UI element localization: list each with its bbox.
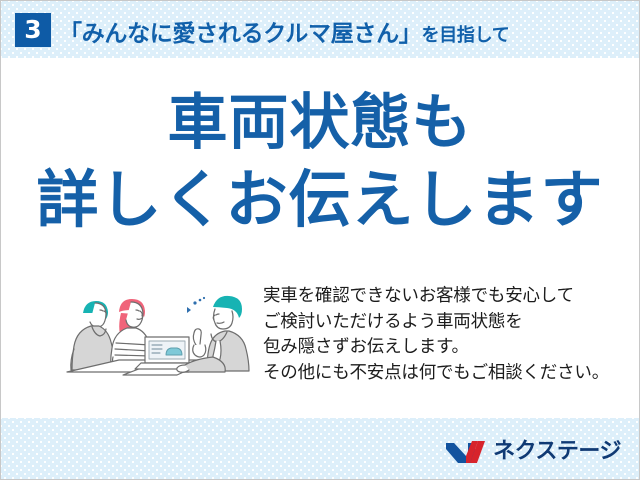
nexstage-logo-text: ネクステージ xyxy=(493,439,621,465)
body-line-3: 包み隠さずお伝えします。 xyxy=(263,335,609,361)
advertisement-banner: 3 「みんなに愛されるクルマ屋さん」 を目指して 車両状態も 詳しくお伝えします xyxy=(0,0,640,480)
body-line-4: その他にも不安点は何でもご相談ください。 xyxy=(263,361,609,387)
consultation-illustration xyxy=(63,279,259,391)
sales-staff-fist xyxy=(193,345,206,357)
sales-staff-face xyxy=(214,309,234,329)
step-number-badge: 3 xyxy=(15,13,51,47)
nexstage-logo: ネクステージ xyxy=(444,437,621,467)
header-title-suffix: を目指して xyxy=(422,21,510,47)
body-line-1: 実車を確認できないお客様でも安心して xyxy=(263,284,609,310)
laptop-car-thumbnail xyxy=(166,348,182,355)
headline-line-2: 詳しくお伝えします xyxy=(1,169,639,231)
headline-line-1: 車両状態も xyxy=(1,93,639,153)
header-title: 「みんなに愛されるクルマ屋さん」 を目指して xyxy=(59,14,509,46)
body-copy: 実車を確認できないお客様でも安心して ご検討いただけるよう車両状態を 包み隠さず… xyxy=(263,284,609,386)
sales-staff-pointing-finger xyxy=(193,329,201,345)
headline: 車両状態も 詳しくお伝えします xyxy=(1,93,639,231)
body-line-2: ご検討いただけるよう車両状態を xyxy=(263,310,609,336)
speech-sparkle-icon xyxy=(187,297,205,313)
header-title-main: 「みんなに愛されるクルマ屋さん」 xyxy=(59,14,422,48)
nexstage-n-icon xyxy=(444,439,486,465)
